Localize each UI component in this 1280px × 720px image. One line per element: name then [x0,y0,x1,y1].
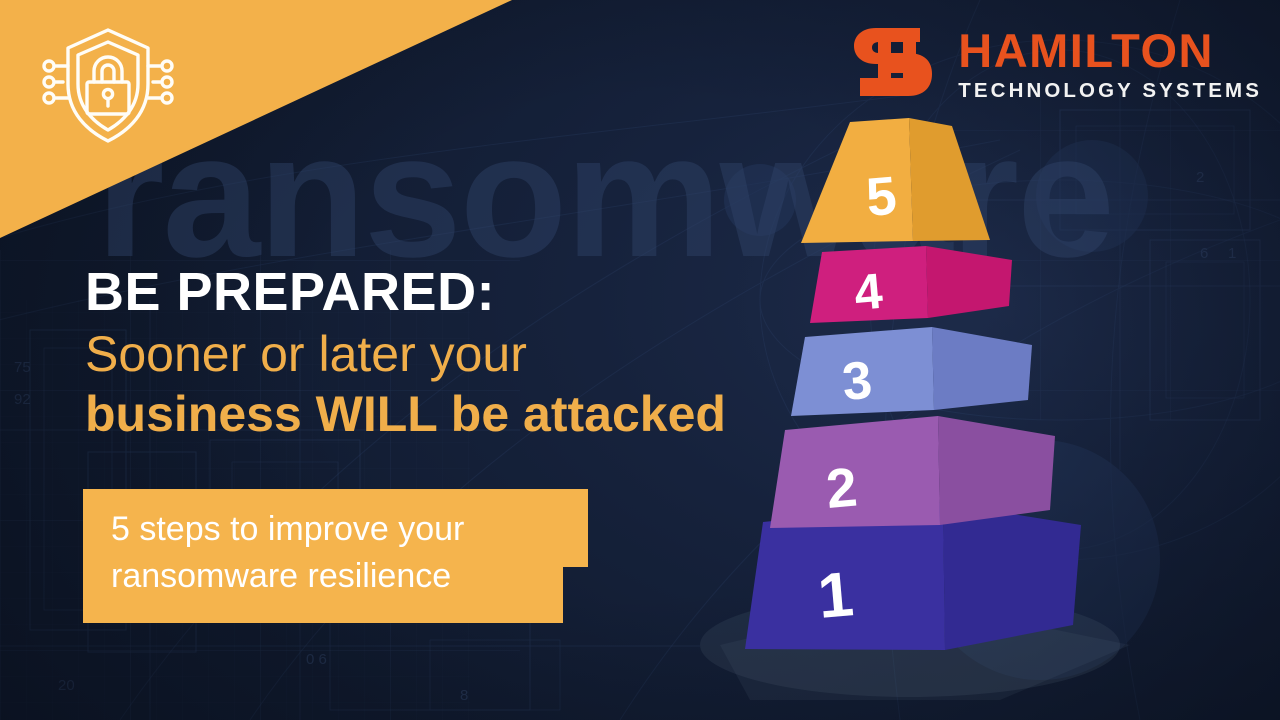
pyramid-level-3: 3 [791,327,1032,416]
logo-tagline: TECHNOLOGY SYSTEMS [958,81,1262,102]
svg-text:4: 4 [852,263,885,321]
pyramid-level-5: 5 [801,118,990,243]
callout-box: 5 steps to improve your ransomware resil… [83,489,588,623]
brand-logo[interactable]: HAMILTON TECHNOLOGY SYSTEMS [846,22,1262,106]
pyramid-level-2: 2 [770,416,1055,528]
callout-line-2: ransomware resilience [111,553,588,600]
sh-monogram-icon [846,22,942,106]
logo-wordmark: HAMILTON TECHNOLOGY SYSTEMS [958,27,1262,102]
svg-text:1: 1 [815,559,856,632]
svg-text:5: 5 [864,166,899,228]
svg-text:3: 3 [840,351,875,412]
five-step-pyramid: 1 2 3 4 5 [660,100,1130,700]
pyramid-level-4: 4 [810,246,1012,323]
poster-canvas: 75 92 12 20 0 6 2 6 1 8 [0,0,1280,720]
callout-line-1: 5 steps to improve your [111,506,588,553]
svg-text:2: 2 [824,456,860,520]
logo-name: HAMILTON [958,27,1262,74]
shield-lock-circuit-icon [32,22,184,150]
